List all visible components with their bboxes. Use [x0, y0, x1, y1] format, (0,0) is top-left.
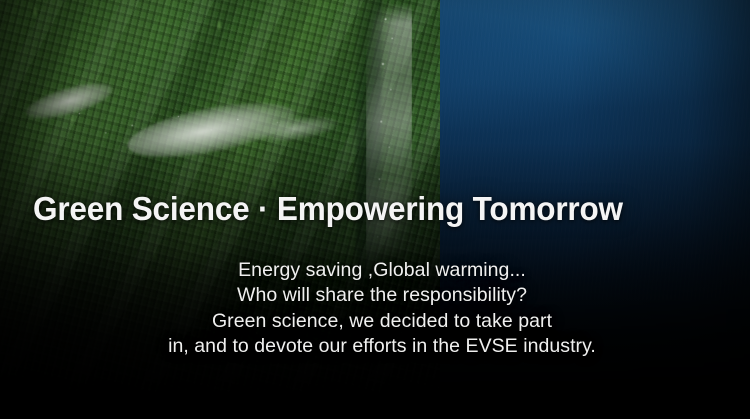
subcopy-line-1: Energy saving ,Global warming...: [0, 258, 750, 283]
subcopy-line-2: Who will share the responsibility?: [0, 283, 750, 308]
subcopy-line-3: Green science, we decided to take part: [0, 309, 750, 334]
banner-subcopy: Energy saving ,Global warming... Who wil…: [0, 258, 750, 360]
banner-content: Green Science · Empowering Tomorrow Ener…: [0, 0, 750, 419]
banner-headline: Green Science · Empowering Tomorrow: [33, 189, 692, 229]
hero-banner: Green Science · Empowering Tomorrow Ener…: [0, 0, 750, 419]
subcopy-line-4: in, and to devote our efforts in the EVS…: [0, 334, 750, 359]
